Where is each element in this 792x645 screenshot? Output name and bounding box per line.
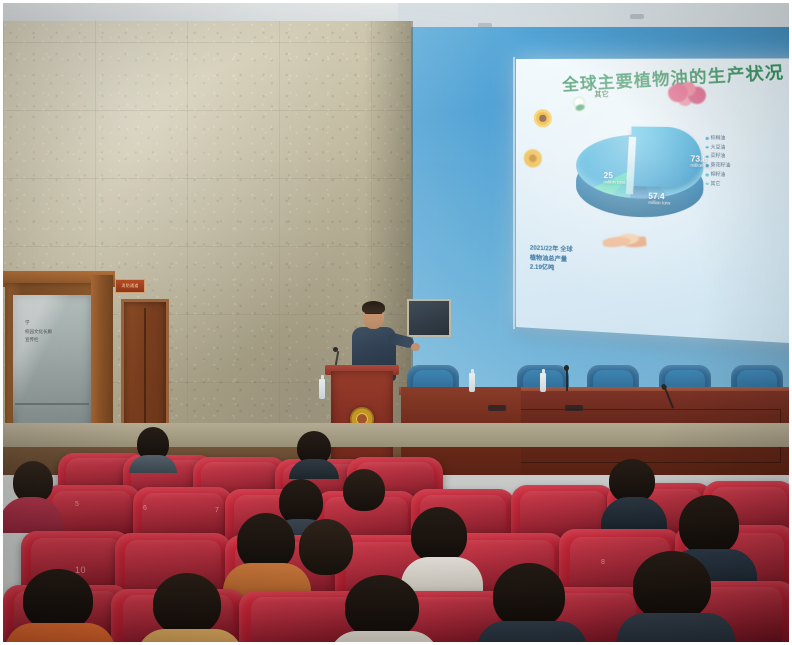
slide-content: 全球主要植物油的生产状况 其它 73.8 million xyxy=(516,58,789,344)
legend-item: 菜籽油 xyxy=(706,152,731,162)
person-head xyxy=(679,495,739,555)
seat-number: 8 xyxy=(601,559,605,566)
display-case-line: 学 xyxy=(25,319,73,328)
audience-seating: 5 6 7 xyxy=(3,423,789,642)
audience-member xyxy=(603,459,665,529)
seat-number: 5 xyxy=(75,501,79,508)
legend-item: 其它 xyxy=(706,179,731,189)
lecture-hall-scene: 全球主要植物油的生产状况 其它 73.8 million xyxy=(3,3,789,642)
pie-label-unit: million tons xyxy=(604,180,626,185)
slide-footnote: 2021/22年 全球 植物油总产量 2.19亿吨 xyxy=(530,244,573,275)
pie-chart: 73.8 million tons 57.4 million tons 25 m… xyxy=(568,112,714,239)
audience-member xyxy=(289,431,339,477)
person-head xyxy=(345,575,419,639)
display-case-line: 宣传栏 xyxy=(25,336,73,345)
water-bottle-icon xyxy=(319,379,325,399)
water-bottle-icon xyxy=(469,373,475,392)
person-shoulders xyxy=(129,455,177,473)
legend-swatch-icon xyxy=(706,155,709,158)
person-head xyxy=(23,569,93,631)
speaker-glasses-icon xyxy=(365,313,382,317)
person-shoulders xyxy=(289,459,339,479)
legend-swatch-icon xyxy=(706,137,709,140)
display-case-line: 校园文化长廊 xyxy=(25,328,73,337)
photograph: 全球主要植物油的生产状况 其它 73.8 million xyxy=(0,0,792,645)
seat-number: 7 xyxy=(215,507,219,514)
legend-label: 其它 xyxy=(710,179,720,188)
exit-sign-label: 消防通道 xyxy=(121,283,138,289)
person-head xyxy=(411,507,467,563)
legend-label: 葵花籽油 xyxy=(710,161,730,171)
table-microphone-icon xyxy=(566,369,568,391)
pie-data-label: 57.4 million tons xyxy=(648,192,670,207)
legend-label: 棉籽油 xyxy=(710,170,725,179)
slide-footnote-line: 2.19亿吨 xyxy=(530,263,573,275)
legend-swatch-icon xyxy=(706,146,709,149)
water-bottle-icon xyxy=(540,373,546,392)
legend-label: 大豆油 xyxy=(710,143,725,152)
person-shoulders xyxy=(617,613,735,642)
exit-sign: 消防通道 xyxy=(115,279,145,293)
audience-member xyxy=(623,551,725,642)
legend-item: 大豆油 xyxy=(706,143,731,153)
person-head xyxy=(633,551,711,621)
person-head xyxy=(299,519,353,575)
sunflower-icon xyxy=(520,147,546,170)
audience-member xyxy=(143,573,235,642)
legend-swatch-icon xyxy=(706,173,709,176)
display-case-text: 学 校园文化长廊 宣传栏 xyxy=(25,319,73,345)
projection-screen: 全球主要植物油的生产状况 其它 73.8 million xyxy=(516,58,789,344)
person-head xyxy=(153,573,221,635)
seat-number: 6 xyxy=(143,505,147,512)
legend-swatch-icon xyxy=(706,164,709,167)
person-shoulders xyxy=(477,621,587,642)
palm-fruit-icon xyxy=(667,81,710,106)
legend-label: 棕榈油 xyxy=(710,134,725,143)
ceiling-vent-icon xyxy=(630,14,644,19)
audience-member xyxy=(3,461,61,531)
display-case-shelf xyxy=(15,403,89,405)
pie-label-unit: million tons xyxy=(648,201,670,207)
audience-member xyxy=(129,427,177,471)
slice-label-other: 其它 xyxy=(594,89,608,99)
person-shoulders xyxy=(329,631,439,642)
legend-swatch-icon xyxy=(706,182,709,185)
speaker-hand xyxy=(411,343,420,351)
person-head xyxy=(493,563,565,629)
legend-item: 棕榈油 xyxy=(706,134,731,143)
audience-member xyxy=(483,563,579,642)
sunflower-icon xyxy=(532,107,554,129)
wall-display-panel xyxy=(407,299,451,337)
table-object xyxy=(488,405,506,411)
person-head xyxy=(343,469,385,511)
table-object xyxy=(565,405,583,411)
person-shoulders xyxy=(137,629,243,642)
audience-member xyxy=(333,575,431,642)
person-shoulders xyxy=(3,497,63,533)
pie-data-label: 25 million tons xyxy=(604,171,626,186)
person-shoulders xyxy=(5,623,115,642)
chart-legend: 棕榈油 大豆油 菜籽油 葵花籽油 xyxy=(706,134,731,189)
legend-label: 菜籽油 xyxy=(710,152,725,161)
person-shoulders xyxy=(601,497,667,531)
audience-member xyxy=(13,569,107,642)
